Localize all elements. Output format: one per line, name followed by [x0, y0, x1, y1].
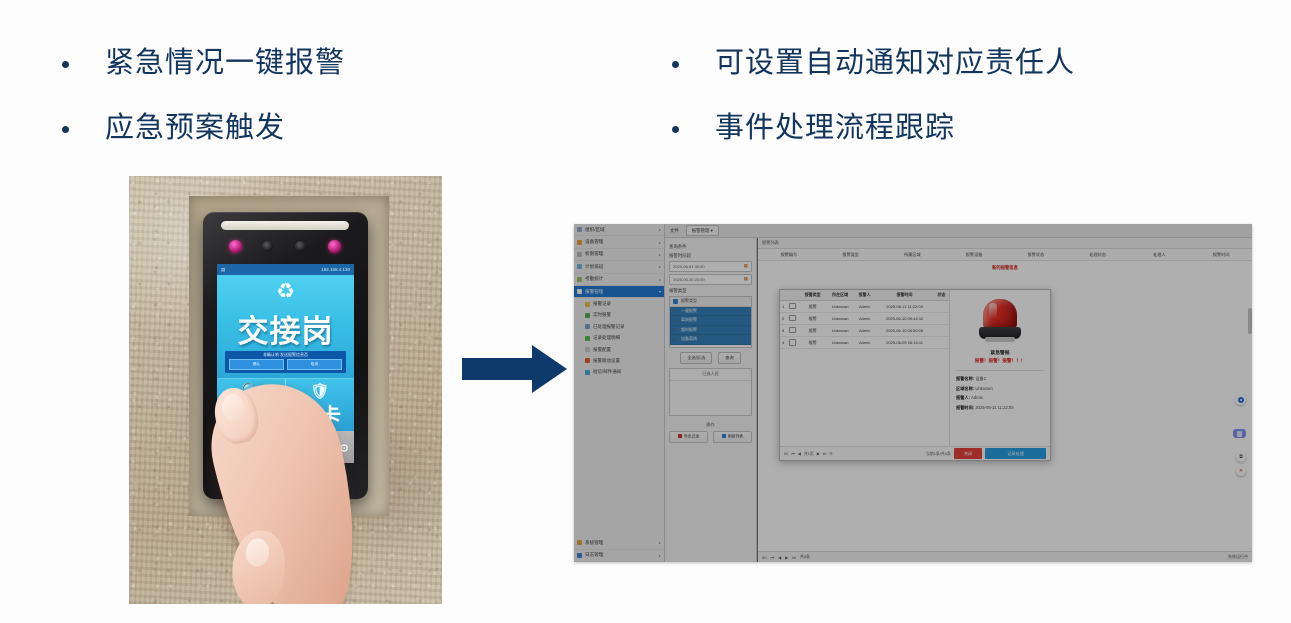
listbox-rows: 1 一键报警 2 离岗报警 3 超时报警 4 设备离线 — [670, 307, 751, 347]
column-header[interactable]: 所属区域 — [882, 252, 944, 258]
sidebar-subitem-handling-detail[interactable]: 记录处理明细 — [574, 333, 664, 344]
sidebar-item-device[interactable]: 设备管理 ▸ — [574, 236, 664, 248]
sidebar-item-label: 报警管理 — [585, 289, 603, 295]
chevron-right-icon: ▸ — [659, 540, 661, 545]
sidebar-subitem-label: 记录处理明细 — [593, 335, 620, 341]
screen-hero: ♻ 交接岗 非确认哨 发送报警信息否 确认 取消 — [217, 275, 354, 378]
cell-status — [934, 337, 949, 349]
shield-check-icon: 🛡 — [310, 382, 329, 400]
sms-icon — [585, 370, 590, 375]
table-row[interactable]: 2 报警 Unknown Admin 2025-06-10 09:44:32 — [780, 313, 949, 325]
refresh-icon — [722, 434, 726, 438]
sidebar-item-alarm[interactable]: 报警管理 ▾ — [574, 286, 664, 298]
field-value: 2025-06-11 11:22:09 — [975, 405, 1013, 410]
log-icon — [577, 553, 582, 558]
capture-icon[interactable]: ⧉ — [1236, 452, 1246, 462]
field-label: 报警人: — [956, 395, 970, 400]
field-value: Admin — [971, 395, 983, 400]
row-index: 2 — [673, 318, 678, 323]
row-label: 设备离线 — [681, 336, 697, 342]
close-button[interactable]: 关闭 — [954, 448, 982, 459]
sidebar-subitem-label: 报警记录 — [593, 301, 611, 307]
calendar-icon[interactable]: ▦ — [744, 263, 748, 269]
refresh-icon[interactable]: ⟳ — [829, 451, 832, 456]
row-label: 一键报警 — [681, 308, 697, 314]
alarm-table-header: 报警类型 所在区域 报警人 报警时间 状态 — [780, 290, 949, 301]
toolbar: 文件 报警管理 ▾ — [665, 224, 1252, 238]
refresh-list-button[interactable]: 刷新列表 — [713, 431, 752, 444]
modal-body: 报警类型 所在区域 报警人 报警时间 状态 1 报警 Unknown — [780, 290, 1050, 446]
alarm-modal: 报警类型 所在区域 报警人 报警时间 状态 1 报警 Unknown — [779, 289, 1051, 461]
detail-field-user: 报警人: Admin — [956, 395, 1044, 401]
cell-type: 报警 — [799, 337, 826, 349]
content-header: 报警列表 — [758, 238, 1252, 249]
sidebar-item-log[interactable]: 日志管理 ▸ — [574, 550, 664, 562]
notice-confirm-button[interactable]: 确认 — [229, 359, 284, 370]
cell-area: Unknown — [826, 313, 854, 325]
time-range-label: 报警时间段 — [669, 253, 752, 259]
page-size-select[interactable]: 50 — [762, 555, 766, 560]
bullet-text: 应急预案触发 — [105, 109, 285, 148]
ir-led-icon — [328, 240, 341, 253]
bullet-dot-icon — [62, 126, 69, 133]
detail-field-time: 报警时间: 2025-06-11 11:22:09 — [956, 405, 1044, 411]
modal-next-page-button[interactable]: ▶ — [817, 451, 820, 456]
column-header[interactable]: 报警时间 — [1190, 252, 1252, 258]
cell-area: Unknown — [826, 337, 854, 349]
filter-panel: 查询条件 报警时间段 2025-06-01 00:00 ▦ 2025-06-30… — [665, 238, 757, 562]
realtime-icon — [585, 313, 590, 318]
target-icon[interactable] — [1235, 394, 1246, 405]
detail-field-name: 报警名称: 设备1 — [956, 376, 1044, 382]
cell-time: 2025-06-10 09:44:32 — [875, 313, 934, 325]
new-alarm-notice: 新的报警信息 — [758, 261, 1252, 275]
table-row[interactable]: 4 报警 Unknown Admin 2025-06-09 16:18:11 — [780, 337, 949, 349]
list-item[interactable]: 1 一键报警 — [670, 307, 751, 317]
notice-buttons: 确认 取消 — [225, 357, 346, 370]
calendar-icon[interactable]: ▦ — [744, 276, 748, 282]
ir-led-icon — [229, 240, 242, 253]
cell-user: Admin — [854, 337, 875, 349]
cell-type: 报警 — [799, 313, 826, 325]
sidebar-subitem-label: 短信/邮件通知 — [593, 369, 621, 375]
camera-lens-icon — [295, 241, 306, 252]
alarm-type-label: 报警类型 — [669, 288, 752, 294]
filter-buttons: 全选/反选 查询 — [669, 352, 752, 364]
tab-alarm-management[interactable]: 报警管理 ▾ — [686, 225, 719, 236]
alarm-beacon-icon — [978, 299, 1022, 345]
sidebar-subitem-handled-records[interactable]: 已处理报警记录 — [574, 321, 664, 332]
fingernail — [220, 392, 248, 423]
thumbnail — [245, 537, 270, 567]
next-page-button[interactable]: ▶ — [785, 555, 788, 560]
row-checkbox[interactable] — [786, 325, 799, 337]
listbox-header: 报警类型 — [670, 297, 751, 307]
sidebar-item-schedule[interactable]: 计划排班 ▸ — [574, 261, 664, 273]
alarm-subtitle: 报警！报警！报警！！！ — [956, 358, 1044, 364]
bullet-text: 事件处理流程跟踪 — [715, 109, 955, 148]
column-header[interactable]: 报警人 — [854, 290, 875, 301]
handled-icon — [585, 324, 590, 329]
selected-person-title: 已选人员 — [670, 369, 751, 381]
list-item[interactable]: 3 超时报警 — [670, 326, 751, 336]
divider — [956, 370, 1044, 371]
row-index: 3 — [673, 327, 678, 332]
sensor-row — [229, 240, 341, 254]
row-label: 离岗报警 — [681, 317, 697, 323]
modal-footer: 50 ⏮ ◀ 共1页 ▶ ⏭ ⟳ 当前1条/共4条 关闭 记录处理 — [780, 446, 1050, 460]
linkage-icon — [585, 358, 590, 363]
screen-title: 交接岗 — [217, 306, 354, 351]
bullet-item: 可设置自动通知对应责任人 — [672, 44, 1142, 83]
field-label: 区域名称: — [956, 386, 974, 391]
column-header[interactable]: 报警时间 — [875, 290, 934, 301]
system-icon — [577, 540, 582, 545]
recycle-arrows-icon: ♻ — [276, 281, 295, 302]
sidebar-subitem-alarm-records[interactable]: 报警记录 — [574, 298, 664, 309]
column-header[interactable]: 报警设备 — [943, 252, 1005, 258]
cell-user: Admin — [854, 313, 875, 325]
sidebar-subitem-alarm-config[interactable]: 报警配置 — [574, 344, 664, 355]
sidebar-item-label: 计划排班 — [585, 264, 603, 270]
chevron-right-icon: ▸ — [659, 240, 661, 245]
sidebar-subitem-realtime-alarm[interactable]: 实时报警 — [574, 310, 664, 321]
sidebar-subitem-label: 报警配置 — [593, 347, 611, 353]
column-header[interactable]: 所在区域 — [826, 290, 854, 301]
row-checkbox[interactable] — [786, 337, 799, 349]
export-icon — [678, 434, 682, 438]
cell-time: 2025-06-11 11:22:09 — [875, 301, 934, 313]
sidebar-subitem-label: 报警联动设置 — [593, 358, 620, 364]
alarm-icon — [577, 289, 582, 294]
chevron-down-icon: ▾ — [659, 289, 661, 294]
sidebar-item-label: 设备管理 — [585, 239, 603, 245]
select-all-checkbox[interactable] — [673, 299, 678, 304]
table-header-row: 报警编号 报警类型 所属区域 报警设备 报警状态 处理状态 处理人 报警时间 — [758, 249, 1252, 261]
column-header[interactable]: 状态 — [934, 290, 949, 301]
last-page-button[interactable]: ⏭ — [792, 555, 796, 560]
cell-time: 2025-06-09 16:18:11 — [875, 337, 934, 349]
bullet-item: 紧急情况一键报警 — [62, 44, 492, 83]
beacon-highlight — [989, 303, 997, 319]
operation-section-title: 操作 — [669, 422, 752, 428]
sidebar-item-organization[interactable]: 组织/区域 ▸ — [574, 224, 664, 236]
sidebar-item-label: 考勤统计 — [585, 276, 603, 282]
row-label: 超时报警 — [681, 327, 697, 333]
device-icon — [577, 240, 582, 245]
bullet-item: 事件处理流程跟踪 — [672, 109, 1142, 148]
detail-field-area: 区域名称: Unknown — [956, 386, 1044, 392]
column-header[interactable]: 处理人 — [1129, 252, 1191, 258]
sidebar-item-permission[interactable]: 权限管理 ▸ — [574, 249, 664, 261]
list-item[interactable]: 4 设备离线 — [670, 335, 751, 345]
field-value: Unknown — [975, 386, 992, 391]
camera-lens-icon — [262, 241, 273, 252]
ip-address-label: 192.168.4.130 — [321, 267, 350, 272]
modal-count-label: 当前1条/共4条 — [926, 451, 951, 457]
export-button[interactable]: 导出记录 — [669, 431, 708, 444]
sidebar-item-system[interactable]: 系统管理 ▸ — [574, 537, 664, 549]
prev-page-button[interactable]: ◀ — [778, 555, 781, 560]
toolbar-file-menu[interactable]: 文件 — [670, 228, 679, 234]
row-checkbox[interactable] — [786, 313, 799, 325]
sidebar: 组织/区域 ▸ 设备管理 ▸ 权限管理 ▸ 计划排班 ▸ 考勤统计 ▸ 报警管理… — [574, 224, 665, 562]
column-header[interactable]: 处理状态 — [1067, 252, 1129, 258]
row-index: 1 — [673, 308, 678, 313]
selected-person-panel: 已选人员 — [669, 368, 752, 416]
content-footer: 50 ⏮ ◀ ▶ ⏭ 共0条 系统运行中 — [758, 551, 1252, 562]
calendar-icon — [577, 264, 582, 269]
bullet-text: 紧急情况一键报警 — [105, 44, 345, 83]
sidebar-item-label: 权限管理 — [585, 251, 603, 257]
status-label: 系统运行中 — [1228, 554, 1248, 560]
field-value: 设备1 — [975, 376, 986, 381]
sidebar-item-attendance[interactable]: 考勤统计 ▸ — [574, 274, 664, 286]
permission-icon — [577, 252, 582, 257]
modal-table-pane: 报警类型 所在区域 报警人 报警时间 状态 1 报警 Unknown — [780, 290, 950, 446]
column-header[interactable]: 报警类型 — [799, 290, 826, 301]
listbox-column-label: 报警类型 — [681, 298, 697, 304]
cell-status — [934, 301, 949, 313]
first-page-button[interactable]: ⏮ — [770, 555, 774, 560]
cell-user: Admin — [854, 301, 875, 313]
page-info-label: 共0条 — [800, 554, 810, 560]
end-date-input[interactable]: 2025-06-30 23:59 ▦ — [669, 274, 752, 285]
query-button[interactable]: 查询 — [718, 352, 740, 364]
checkbox-header[interactable] — [786, 290, 799, 301]
cell-status — [934, 325, 949, 337]
bullet-dot-icon — [672, 61, 679, 68]
cell-type: 报警 — [799, 301, 826, 313]
cell-time: 2025-06-10 08:50:06 — [875, 325, 934, 337]
record-icon — [585, 302, 590, 307]
right-arrow-icon — [462, 345, 567, 393]
field-label: 报警时间: — [956, 405, 974, 410]
speaker-grille-icon — [221, 221, 349, 230]
modal-first-page-button[interactable]: ⏮ — [791, 451, 795, 456]
device-photo: ▤ 192.168.4.130 ♻ 交接岗 非确认哨 发送报警信息否 确认 取消… — [129, 176, 442, 604]
field-label: 报警名称: — [956, 376, 974, 381]
table-row[interactable]: 1 报警 Unknown Admin 2025-06-11 11:22:09 — [780, 301, 949, 313]
column-header[interactable]: 报警类型 — [820, 252, 882, 258]
sidebar-subitem-label: 实时报警 — [593, 312, 611, 318]
row-checkbox[interactable] — [786, 301, 799, 313]
column-header[interactable]: 报警编号 — [758, 252, 820, 258]
column-header[interactable]: 报警状态 — [1005, 252, 1067, 258]
bullet-list-right: 可设置自动通知对应责任人 事件处理流程跟踪 — [672, 44, 1142, 174]
sidebar-item-label: 组织/区域 — [585, 227, 605, 233]
modal-last-page-button[interactable]: ⏭ — [823, 451, 827, 456]
alert-icon[interactable]: ✳ — [1236, 466, 1246, 476]
cell-status — [934, 313, 949, 325]
sidebar-bottom-group: 系统管理 ▸ 日志管理 ▸ — [574, 537, 664, 562]
chevron-right-icon: ▸ — [659, 252, 661, 257]
row-index: 4 — [673, 337, 678, 342]
cell-area: Unknown — [826, 301, 854, 313]
bullet-dot-icon — [672, 126, 679, 133]
end-date-value: 2025-06-30 23:59 — [673, 277, 705, 282]
modal-detail-pane: 紧急警报 报警！报警！报警！！！ 报警名称: 设备1 区域名称: Unknown… — [950, 290, 1050, 446]
notice-box: 非确认哨 发送报警信息否 确认 取消 — [225, 351, 346, 373]
device-icon[interactable] — [1233, 429, 1246, 438]
chevron-right-icon: ▸ — [659, 227, 661, 232]
modal-page-label: 共1页 — [804, 451, 814, 457]
sidebar-subitem-sms-notify[interactable]: 短信/邮件通知 — [574, 367, 664, 378]
vertical-scrollbar[interactable] — [1248, 308, 1252, 334]
operation-buttons: 导出记录 刷新列表 — [669, 431, 752, 444]
sidebar-subitem-label: 已处理报警记录 — [593, 324, 625, 330]
bullet-dot-icon — [62, 61, 69, 68]
sidebar-subitem-linkage-setting[interactable]: 报警联动设置 — [574, 355, 664, 366]
alarm-title: 紧急警报 — [956, 349, 1044, 356]
start-date-input[interactable]: 2025-06-01 00:00 ▦ — [669, 261, 752, 272]
cell-area: Unknown — [826, 325, 854, 337]
chevron-right-icon: ▸ — [659, 264, 661, 269]
screen-status-bar: ▤ 192.168.4.130 — [217, 264, 354, 275]
modal-page-size-select[interactable]: 50 — [784, 451, 788, 456]
notice-cancel-button[interactable]: 取消 — [287, 359, 342, 370]
refresh-button-label: 刷新列表 — [728, 435, 743, 439]
menu-icon: ▤ — [221, 267, 225, 273]
chevron-right-icon: ▸ — [659, 553, 661, 558]
alarm-type-listbox[interactable]: 报警类型 1 一键报警 2 离岗报警 3 超时报警 4 设备离线 — [669, 296, 752, 348]
detail-icon — [585, 336, 590, 341]
bullet-item: 应急预案触发 — [62, 109, 492, 148]
software-screenshot: 组织/区域 ▸ 设备管理 ▸ 权限管理 ▸ 计划排班 ▸ 考勤统计 ▸ 报警管理… — [574, 224, 1252, 562]
list-item[interactable]: 2 离岗报警 — [670, 316, 751, 326]
cell-type: 报警 — [799, 325, 826, 337]
config-icon — [585, 347, 590, 352]
bullet-list-left: 紧急情况一键报警 应急预案触发 — [62, 44, 492, 174]
start-date-value: 2025-06-01 00:00 — [673, 264, 705, 269]
sidebar-item-label: 系统管理 — [585, 540, 603, 546]
org-icon — [577, 227, 582, 232]
table-row[interactable]: 3 报警 Unknown Admin 2025-06-10 08:50:06 — [780, 325, 949, 337]
select-all-button[interactable]: 全选/反选 — [680, 352, 712, 364]
alarm-table: 报警类型 所在区域 报警人 报警时间 状态 1 报警 Unknown — [780, 290, 949, 349]
bullet-text: 可设置自动通知对应责任人 — [715, 44, 1075, 83]
beacon-foot — [985, 337, 1015, 342]
chevron-right-icon: ▸ — [659, 277, 661, 282]
filter-panel-header: 查询条件 — [669, 244, 752, 250]
thumb — [229, 528, 288, 604]
export-button-label: 导出记录 — [684, 435, 699, 439]
cell-user: Admin — [854, 325, 875, 337]
chart-icon — [577, 277, 582, 282]
sidebar-item-label: 日志管理 — [585, 552, 603, 558]
modal-prev-page-button[interactable]: ◀ — [798, 451, 801, 456]
handle-record-button[interactable]: 记录处理 — [985, 448, 1046, 459]
